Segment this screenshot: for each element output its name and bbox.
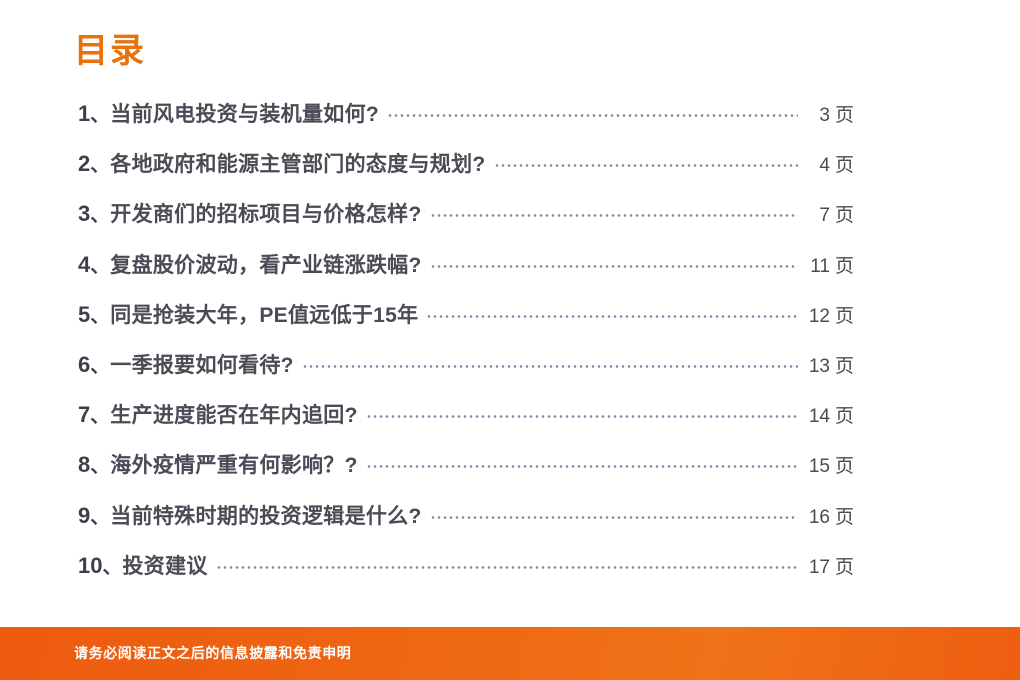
dot-leader	[366, 408, 798, 422]
toc-entry-1: 1 、 当前风电投资与装机量如何?	[78, 98, 379, 128]
dot-leader	[366, 458, 798, 472]
footer-bar: 请务必阅读正文之后的信息披露和免责申明	[0, 627, 1020, 680]
toc-item-separator: 、	[90, 502, 109, 529]
toc-item-page: 12页	[804, 301, 878, 328]
toc-item-label: 各地政府和能源主管部门的态度与规划?	[110, 148, 485, 178]
toc-item-separator: 、	[90, 401, 109, 428]
toc-page-number: 17	[804, 557, 830, 579]
toc-page-number: 3	[804, 105, 830, 127]
toc-page-unit: 页	[835, 507, 854, 528]
footer-disclaimer: 请务必阅读正文之后的信息披露和免责申明	[74, 643, 351, 663]
toc-entry-2: 2 、 各地政府和能源主管部门的态度与规划?	[78, 148, 486, 178]
dot-leader	[302, 358, 798, 372]
toc-item-page: 11页	[804, 251, 878, 278]
toc-page-number: 14	[804, 406, 830, 428]
toc-item-number: 1	[78, 101, 90, 127]
toc-item-separator: 、	[90, 301, 109, 328]
toc-item-separator: 、	[90, 351, 109, 378]
toc-item-separator: 、	[90, 451, 109, 478]
toc-entry-5: 5 、 同是抢装大年，PE值远低于15年	[78, 299, 418, 329]
toc-item-page: 15页	[804, 451, 878, 478]
toc-item-page: 14页	[804, 401, 878, 428]
toc-entry-6: 6 、 一季报要如何看待?	[78, 349, 294, 379]
toc-item-label: 生产进度能否在年内追回?	[110, 399, 357, 429]
toc-item-separator: 、	[102, 552, 121, 579]
toc-item-separator: 、	[90, 200, 109, 227]
toc-item-label: 投资建议	[123, 550, 208, 580]
toc-item-6[interactable]: 6 、 一季报要如何看待? 13页	[78, 349, 878, 399]
toc-item-number: 9	[78, 503, 90, 529]
toc-item-7[interactable]: 7 、 生产进度能否在年内追回? 14页	[78, 399, 878, 449]
toc-item-number: 3	[78, 201, 90, 227]
toc-entry-3: 3 、 开发商们的招标项目与价格怎样?	[78, 198, 422, 228]
toc-page-unit: 页	[835, 406, 854, 427]
toc-item-separator: 、	[90, 150, 109, 177]
toc-entry-4: 4 、 复盘股价波动，看产业链涨跌幅?	[78, 249, 422, 279]
toc-item-label: 一季报要如何看待?	[110, 349, 294, 379]
toc-page-unit: 页	[835, 205, 854, 226]
toc-item-page: 4页	[804, 150, 878, 177]
toc-item-label: 海外疫情严重有何影响？?	[110, 449, 357, 479]
toc-item-label: 当前风电投资与装机量如何?	[110, 98, 379, 128]
toc-page-number: 7	[804, 205, 830, 227]
dot-leader	[216, 559, 798, 573]
toc-page-unit: 页	[835, 557, 854, 578]
toc-page-unit: 页	[835, 105, 854, 126]
toc-item-9[interactable]: 9 、 当前特殊时期的投资逻辑是什么? 16页	[78, 500, 878, 550]
dot-leader	[494, 157, 799, 171]
toc-page-number: 15	[804, 456, 830, 478]
toc-entry-10: 10 、 投资建议	[78, 550, 208, 580]
toc-item-number: 2	[78, 151, 90, 177]
toc-item-number: 5	[78, 302, 90, 328]
dot-leader	[430, 207, 798, 221]
dot-leader	[430, 509, 798, 523]
toc-page-number: 12	[804, 306, 830, 328]
toc-entry-9: 9 、 当前特殊时期的投资逻辑是什么?	[78, 500, 422, 530]
toc-item-number: 6	[78, 352, 90, 378]
dot-leader	[387, 107, 798, 121]
toc-item-number: 10	[78, 553, 102, 579]
toc-item-3[interactable]: 3 、 开发商们的招标项目与价格怎样? 7页	[78, 198, 878, 248]
toc-page-number: 16	[804, 507, 830, 529]
toc-page-number: 4	[804, 155, 830, 177]
toc-item-separator: 、	[90, 100, 109, 127]
toc-entry-8: 8 、 海外疫情严重有何影响？?	[78, 449, 358, 479]
toc-list: 1 、 当前风电投资与装机量如何? 3页 2 、 各地政府和能源主管部门的态度与…	[78, 98, 878, 600]
page-title: 目录	[74, 33, 146, 70]
toc-item-10[interactable]: 10 、 投资建议 17页	[78, 550, 878, 600]
toc-item-number: 8	[78, 452, 90, 478]
toc-item-label: 当前特殊时期的投资逻辑是什么?	[110, 500, 421, 530]
toc-item-label: 复盘股价波动，看产业链涨跌幅?	[110, 249, 421, 279]
toc-item-1[interactable]: 1 、 当前风电投资与装机量如何? 3页	[78, 98, 878, 148]
toc-item-8[interactable]: 8 、 海外疫情严重有何影响？? 15页	[78, 449, 878, 499]
toc-entry-7: 7 、 生产进度能否在年内追回?	[78, 399, 358, 429]
toc-page-unit: 页	[835, 306, 854, 327]
toc-item-page: 16页	[804, 502, 878, 529]
toc-page-number: 13	[804, 356, 830, 378]
toc-item-number: 4	[78, 252, 90, 278]
toc-item-label: 开发商们的招标项目与价格怎样?	[110, 198, 421, 228]
toc-item-page: 17页	[804, 552, 878, 579]
toc-page-unit: 页	[835, 155, 854, 176]
dot-leader	[426, 308, 798, 322]
toc-item-page: 7页	[804, 200, 878, 227]
toc-item-5[interactable]: 5 、 同是抢装大年，PE值远低于15年 12页	[78, 299, 878, 349]
toc-item-label: 同是抢装大年，PE值远低于15年	[110, 299, 418, 329]
toc-item-4[interactable]: 4 、 复盘股价波动，看产业链涨跌幅? 11页	[78, 249, 878, 299]
toc-page-unit: 页	[835, 256, 854, 277]
toc-page-number: 11	[804, 256, 830, 278]
toc-page-unit: 页	[835, 356, 854, 377]
slide-canvas: 目录 1 、 当前风电投资与装机量如何? 3页 2 、 各地政府和能源主管部门的…	[0, 0, 1020, 680]
toc-item-number: 7	[78, 402, 90, 428]
toc-item-page: 3页	[804, 100, 878, 127]
dot-leader	[430, 258, 798, 272]
toc-page-unit: 页	[835, 456, 854, 477]
toc-item-page: 13页	[804, 351, 878, 378]
toc-item-separator: 、	[90, 251, 109, 278]
toc-item-2[interactable]: 2 、 各地政府和能源主管部门的态度与规划? 4页	[78, 148, 878, 198]
